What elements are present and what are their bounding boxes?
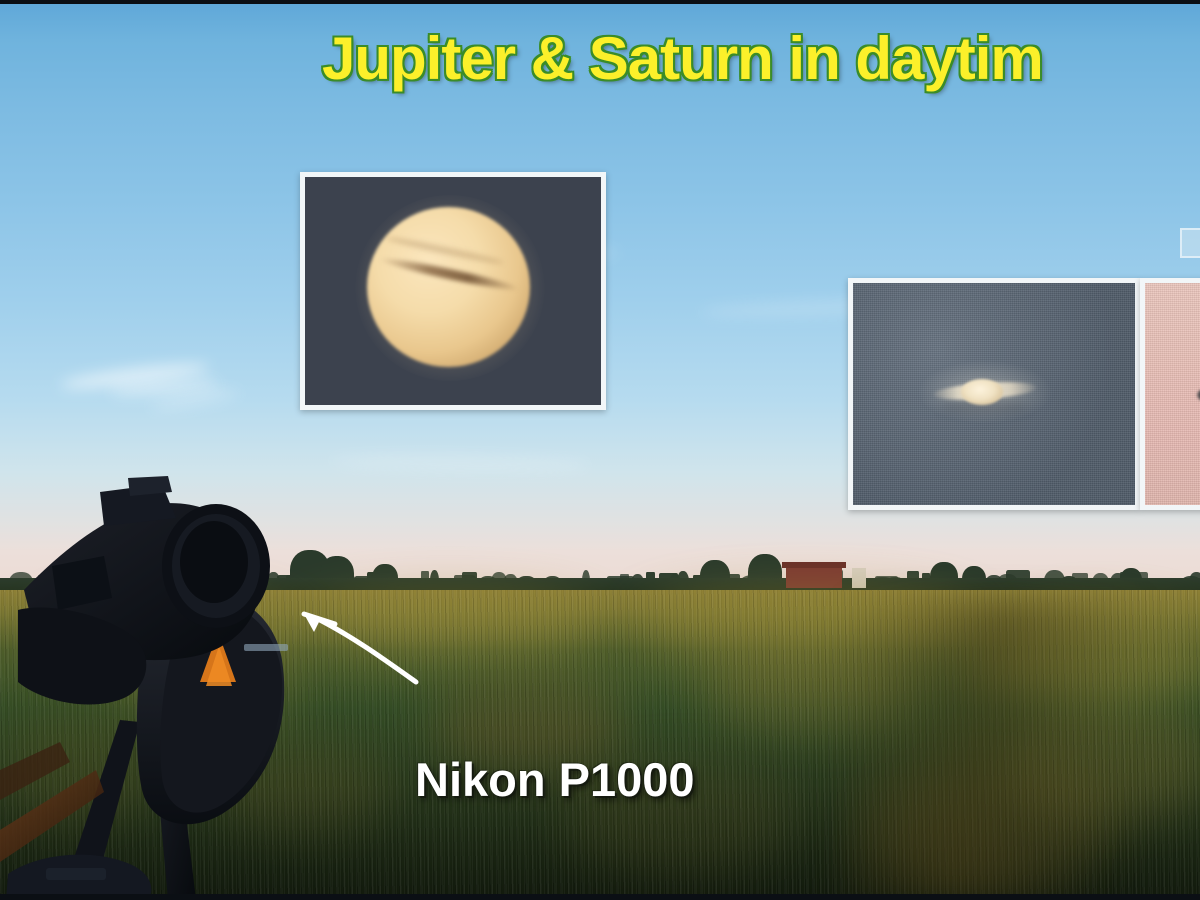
red-barn-roof: [782, 562, 846, 568]
saturn-disk: [961, 379, 1003, 405]
video-title-overlay: Jupiter & Saturn in daytim: [322, 24, 1043, 93]
curved-arrow-pointing-to-camera: [280, 600, 460, 690]
letterbox-bar-bottom: [0, 894, 1200, 900]
video-frame: Jupiter & Saturn in daytim Nikon P1000: [0, 0, 1200, 900]
pink-panel-noise: [1145, 283, 1200, 505]
inset-jupiter: [300, 172, 606, 410]
telescope-camera-rig-on-tripod: [0, 470, 320, 900]
inset-corner-fragment: [1180, 228, 1200, 258]
inset-saturn: [848, 278, 1140, 510]
field-track: [840, 600, 1200, 900]
arrow-shaft: [316, 618, 416, 682]
camera-annotation-label: Nikon P1000: [415, 752, 695, 807]
inset-pink-panel: [1140, 278, 1200, 510]
red-barn: [786, 566, 842, 588]
letterbox-bar-top: [0, 0, 1200, 4]
white-building: [852, 568, 866, 588]
